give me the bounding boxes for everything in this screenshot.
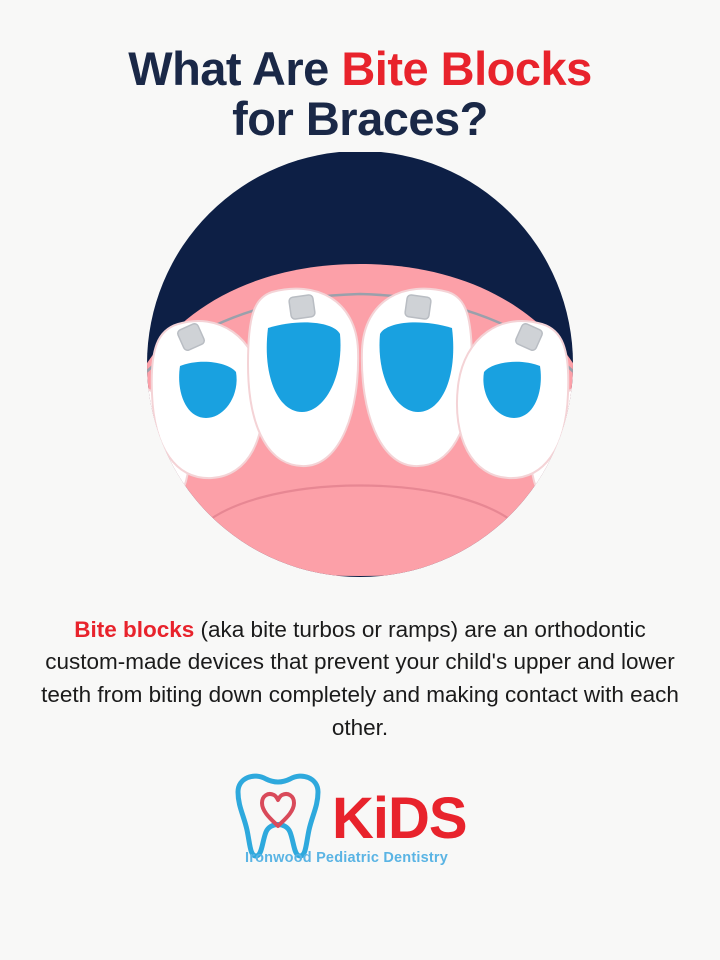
title-line-2: for Braces?	[40, 94, 680, 144]
description-paragraph: Bite blocks (aka bite turbos or ramps) a…	[40, 614, 680, 745]
heart-icon	[262, 794, 294, 826]
tooth-molar-left	[34, 439, 137, 558]
title-text-accent: Bite Blocks	[341, 42, 591, 95]
logo-wordmark: KiDS	[332, 786, 467, 851]
bracket-molar-left	[69, 457, 98, 486]
illustration-dental-arch	[0, 152, 720, 592]
tooth-with-heart-icon	[238, 776, 318, 856]
bracket-central-right	[405, 294, 432, 319]
bracket-premolar-left	[106, 387, 136, 417]
title-line-1: What Are Bite Blocks	[40, 44, 680, 94]
palate-side-line-left	[170, 482, 182, 520]
brand-logo[interactable]: KiDS Ironwood Pediatric Dentistry	[210, 770, 510, 880]
dental-arch-svg	[0, 152, 720, 592]
tooth-lateral-incisor-left	[152, 321, 263, 478]
brand-logo-svg: KiDS Ironwood Pediatric Dentistry	[210, 770, 510, 880]
bracket-premolar-right	[584, 387, 614, 417]
logo-tagline: Ironwood Pediatric Dentistry	[245, 850, 448, 866]
tooth-molar-right	[584, 439, 687, 558]
archwire-tail-right	[624, 448, 642, 504]
description-lead: Bite blocks	[74, 617, 194, 642]
title-text-plain: What Are	[128, 42, 341, 95]
bracket-molar-right	[623, 457, 652, 486]
bracket-central-left	[289, 294, 316, 319]
palate-side-line-right	[538, 482, 550, 520]
archwire-tail-left	[78, 448, 96, 504]
page-title: What Are Bite Blocks for Braces?	[40, 44, 680, 144]
infographic-poster: What Are Bite Blocks for Braces?	[0, 0, 720, 960]
tooth-lateral-incisor-right	[457, 321, 568, 478]
